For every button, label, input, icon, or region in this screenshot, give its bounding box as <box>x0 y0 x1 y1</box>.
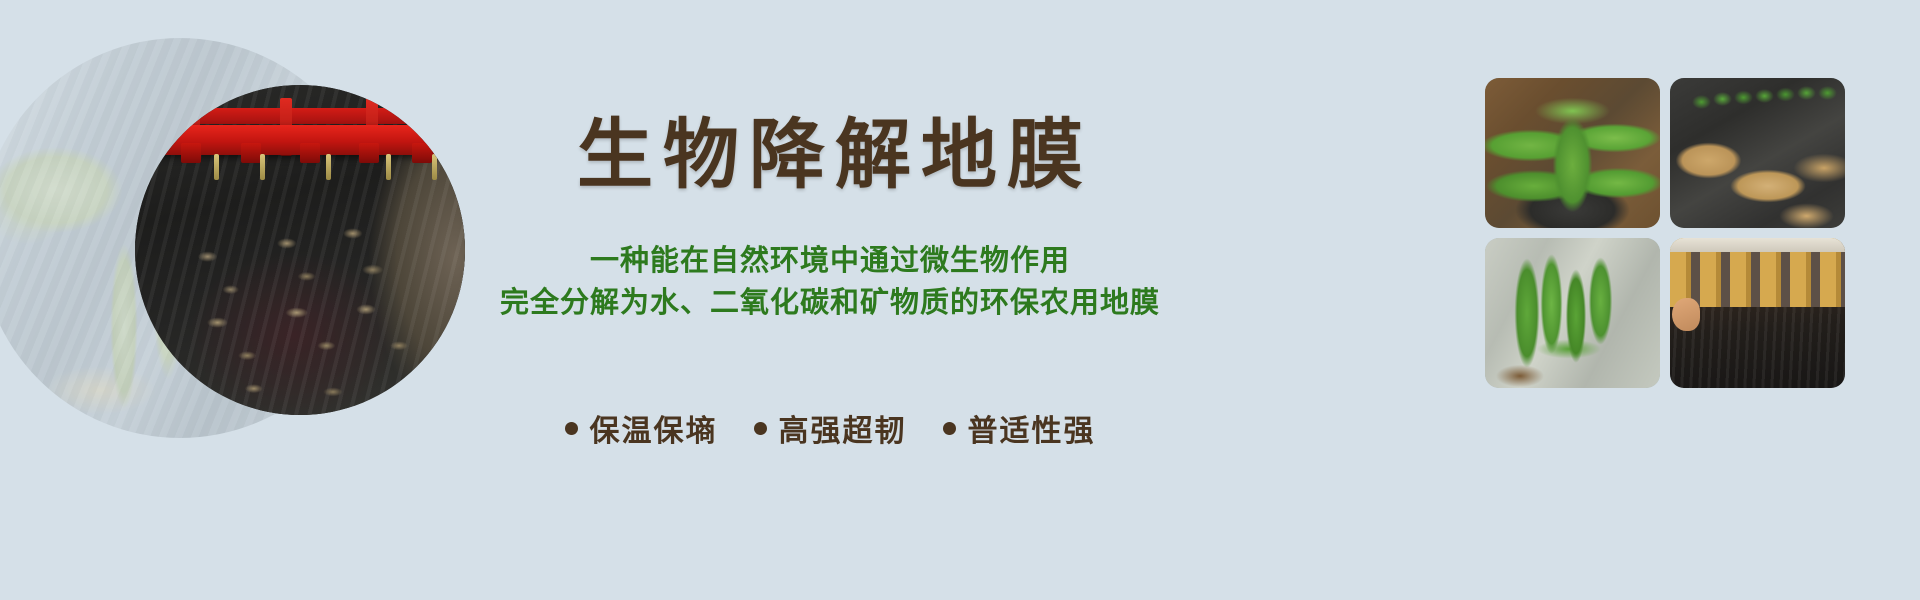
bullet-dot-icon <box>943 422 956 435</box>
banner-subtitle-line-1: 一种能在自然环境中通过微生物作用 <box>480 240 1180 282</box>
machine-bracket-icon <box>359 143 379 163</box>
machine-bracket-icon <box>412 143 432 163</box>
fence-top-rail <box>1670 238 1845 252</box>
banner-title: 生物降解地膜 <box>480 118 1180 194</box>
banner-text-block: 生物降解地膜 一种能在自然环境中通过微生物作用 完全分解为水、二氧化碳和矿物质的… <box>480 0 1180 600</box>
machine-bracket-icon <box>241 143 261 163</box>
product-hero-banner: 生物降解地膜 一种能在自然环境中通过微生物作用 完全分解为水、二氧化碳和矿物质的… <box>0 0 1920 600</box>
banner-subtitle-line-2: 完全分解为水、二氧化碳和矿物质的环保农用地膜 <box>480 282 1180 324</box>
banner-subtitle: 一种能在自然环境中通过微生物作用 完全分解为水、二氧化碳和矿物质的环保农用地膜 <box>480 240 1180 324</box>
bullet-dot-icon <box>754 422 767 435</box>
photo-green-leaves-over-grey-mulch-film <box>1485 238 1660 388</box>
feature-item-strength: 高强超韧 <box>754 406 907 450</box>
photo-tobacco-plant-on-black-mulch-film <box>1485 78 1660 228</box>
photo-hand-holding-black-film-roll-by-fence <box>1670 238 1845 388</box>
feature-label: 保温保墒 <box>590 406 718 450</box>
mulch-film-field-photo-surface <box>135 85 465 415</box>
photo-surface <box>1670 238 1845 388</box>
machine-tine-icon <box>214 154 219 180</box>
machine-tine-icon <box>432 154 437 180</box>
machine-bracket-icon <box>181 143 201 163</box>
hand-icon <box>1672 298 1700 331</box>
photo-seedling-rows-on-black-mulch-film <box>1670 78 1845 228</box>
machine-tine-icon <box>260 154 265 180</box>
machine-tine-icon <box>386 154 391 180</box>
photo-surface <box>1485 238 1660 388</box>
circle-photo-red-mulch-laying-machine <box>135 85 465 415</box>
photo-surface <box>1670 78 1845 228</box>
photo-surface <box>1485 78 1660 228</box>
machine-upper-bar <box>175 108 419 124</box>
product-photo-gallery <box>1485 78 1845 402</box>
feature-list: 保温保墒 高强超韧 普适性强 <box>480 406 1180 450</box>
feature-label: 普适性强 <box>968 406 1096 450</box>
machine-bracket-icon <box>300 143 320 163</box>
feature-item-insulation: 保温保墒 <box>565 406 718 450</box>
bullet-dot-icon <box>565 422 578 435</box>
machine-tine-icon <box>326 154 331 180</box>
feature-item-versatility: 普适性强 <box>943 406 1096 450</box>
feature-label: 高强超韧 <box>779 406 907 450</box>
